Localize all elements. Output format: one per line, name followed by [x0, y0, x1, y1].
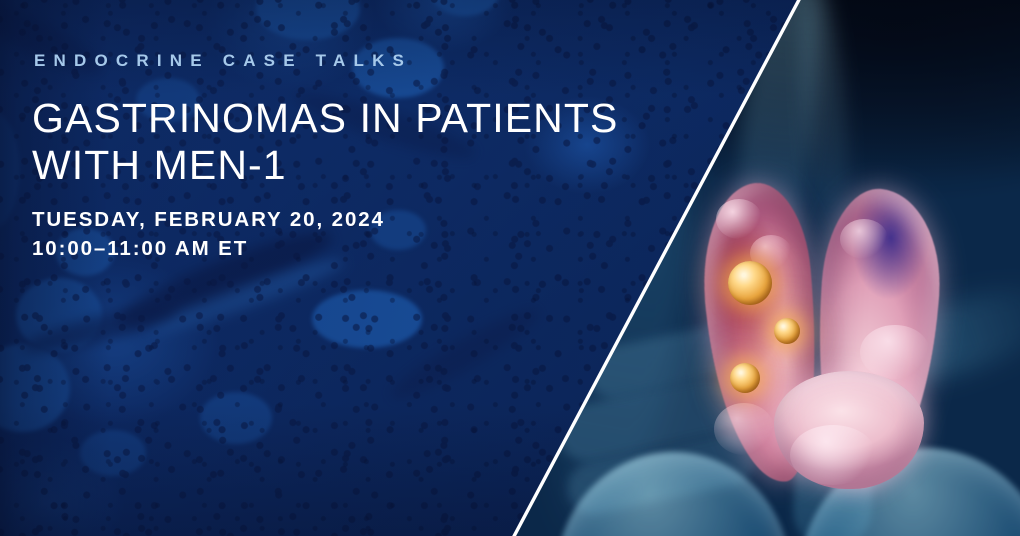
event-time: 10:00–11:00 AM ET [32, 234, 692, 263]
series-kicker: ENDOCRINE CASE TALKS [34, 52, 692, 69]
event-date: TUESDAY, FEBRUARY 20, 2024 [32, 205, 692, 234]
tumor-nodule-icon [730, 363, 760, 393]
tumor-nodule-icon [774, 318, 800, 344]
tumor-nodule-icon [728, 261, 772, 305]
thyroid-isthmus [774, 371, 924, 489]
webinar-promo-banner: ENDOCRINE CASE TALKS GASTRINOMAS IN PATI… [0, 0, 1020, 536]
banner-text-block: ENDOCRINE CASE TALKS GASTRINOMAS IN PATI… [32, 52, 692, 263]
thyroid-gland-illustration [690, 175, 980, 505]
page-title: GASTRINOMAS IN PATIENTS WITH MEN-1 [32, 95, 692, 189]
